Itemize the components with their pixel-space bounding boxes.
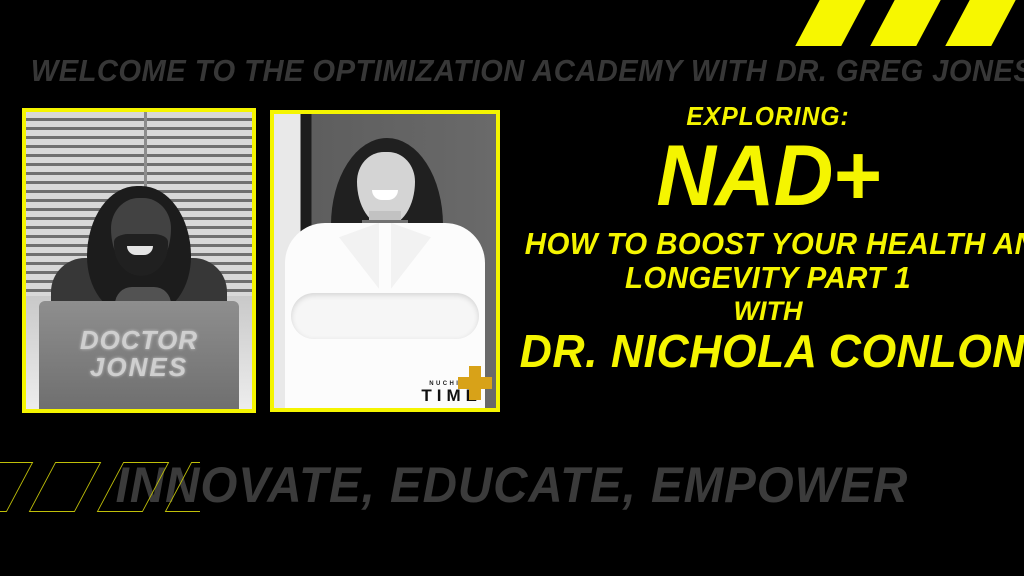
welcome-headline: WELCOME TO THE OPTIMIZATION ACADEMY WITH… [31, 55, 994, 86]
doctor-jones-logo: DOCTOR JONES [39, 327, 239, 382]
bottom-left-stripes-decoration [0, 458, 200, 520]
laptop: DOCTOR JONES [39, 301, 239, 409]
podcast-thumbnail: WELCOME TO THE OPTIMIZATION ACADEMY WITH… [0, 0, 1024, 576]
title-block: EXPLORING: NAD+ HOW TO BOOST YOUR HEALTH… [512, 102, 1024, 375]
stripe-bar [864, 0, 948, 46]
topic-heading: NAD+ [522, 133, 1014, 219]
guest-photo-image [274, 114, 496, 408]
subtitle-line-1: HOW TO BOOST YOUR HEALTH AND [525, 227, 1011, 262]
host-photo-card: DOCTOR JONES [22, 108, 256, 413]
stripe-outline-bar [97, 462, 170, 512]
stripe-outline-bar [165, 462, 200, 512]
with-label: WITH [512, 297, 1024, 327]
laptop-logo-line2: JONES [39, 354, 239, 381]
guest-name: DR. NICHOLA CONLON [520, 327, 1017, 375]
top-right-stripes-decoration [790, 0, 1024, 46]
host-photo-image: DOCTOR JONES [26, 112, 252, 409]
stripe-bar [790, 0, 873, 46]
stripe-outline-bar [0, 462, 33, 512]
plus-sign-icon [458, 366, 492, 400]
laptop-logo-line1: DOCTOR [39, 327, 239, 354]
guest-photo-card: NUCHIDO TIME [270, 110, 500, 412]
stripe-bar [939, 0, 1023, 46]
eyebrow-label: EXPLORING: [525, 102, 1011, 131]
guest-crossed-arms [291, 293, 479, 339]
stripe-outline-bar [29, 462, 102, 512]
host-smile [127, 246, 153, 255]
subtitle-line-2: LONGEVITY PART 1 [525, 261, 1011, 296]
